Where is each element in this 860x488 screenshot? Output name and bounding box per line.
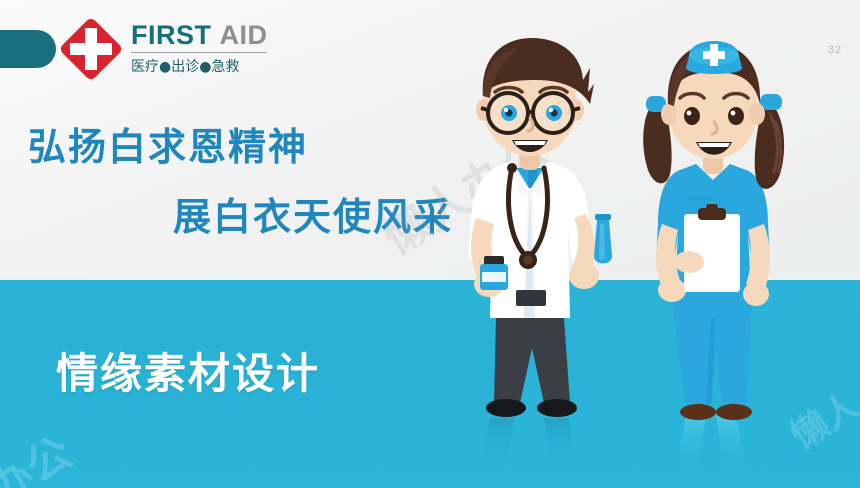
- brand-title-aid: AID: [220, 20, 268, 50]
- nurse-reflection: [676, 416, 746, 468]
- brand-title: FIRST AID: [131, 20, 281, 50]
- brand-subtitle: 医疗●出诊●急救: [131, 56, 281, 76]
- medicine-bottle: [480, 256, 508, 290]
- slide-canvas: FIRST AID 医疗●出诊●急救 32 弘扬白求恩精神 展白衣天使风采 情缘…: [0, 0, 860, 488]
- brand-title-first: FIRST: [131, 20, 212, 50]
- doctor-reflection: [480, 418, 578, 468]
- nurse-cap-with-cross: [686, 41, 742, 74]
- test-tube: [594, 214, 612, 264]
- female-nurse-character: [643, 41, 784, 420]
- illustration-group: [440, 18, 840, 468]
- teal-pill-tab: [0, 30, 56, 68]
- brand-divider: [131, 52, 267, 53]
- male-doctor-character: [468, 38, 612, 417]
- clipboard: [684, 204, 740, 292]
- headline-line-1: 弘扬白求恩精神: [28, 126, 308, 168]
- brand-block: FIRST AID 医疗●出诊●急救: [131, 20, 281, 76]
- red-cross-icon: [60, 18, 122, 80]
- banner-title: 情缘素材设计: [56, 340, 320, 401]
- headline-line-2: 展白衣天使风采: [173, 196, 453, 238]
